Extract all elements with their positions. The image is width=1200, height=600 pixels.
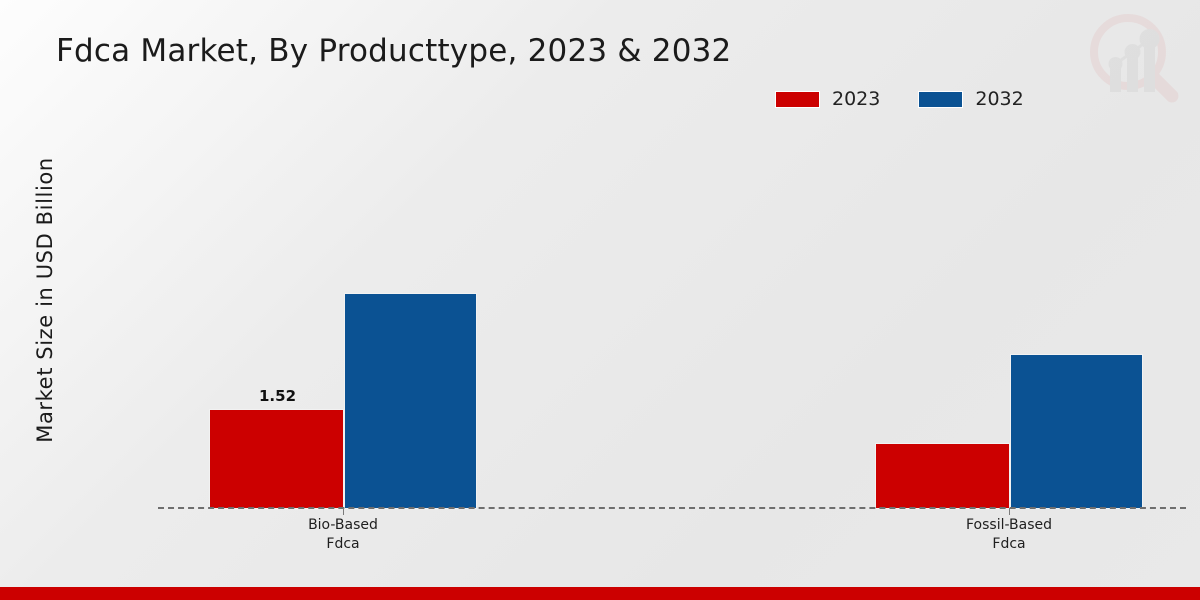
x-axis-baseline [158, 507, 1186, 509]
legend-label-2023: 2023 [832, 88, 880, 110]
x-label-fossil-based-fdca-line2: Fdca [929, 535, 1089, 554]
magnifier-bar-chart-watermark-icon [1082, 6, 1186, 110]
x-label-fossil-based-fdca: Fossil-Based Fdca [929, 516, 1089, 554]
x-label-bio-based-fdca: Bio-Based Fdca [263, 516, 423, 554]
x-axis-labels: Bio-Based Fdca Fossil-Based Fdca [158, 512, 1186, 572]
x-label-bio-based-fdca-line1: Bio-Based [263, 516, 423, 535]
legend-label-2032: 2032 [975, 88, 1023, 110]
chart-canvas: Fdca Market, By Producttype, 2023 & 2032… [0, 0, 1200, 600]
bar-fossil-based-fdca-2032[interactable] [1010, 354, 1143, 509]
legend-swatch-2032 [918, 91, 963, 108]
legend-item-2023[interactable]: 2023 [775, 88, 880, 110]
x-tick-fossil-based-fdca [1009, 508, 1010, 515]
bars-layer: 1.52 [158, 140, 1186, 509]
legend-item-2032[interactable]: 2032 [918, 88, 1023, 110]
x-label-fossil-based-fdca-line1: Fossil-Based [929, 516, 1089, 535]
footer-accent-bar [0, 587, 1200, 600]
bar-bio-based-fdca-2023[interactable] [209, 409, 344, 509]
x-label-bio-based-fdca-line2: Fdca [263, 535, 423, 554]
bar-bio-based-fdca-2032[interactable] [344, 293, 477, 509]
legend-swatch-2023 [775, 91, 820, 108]
plot-area: 1.52 [158, 140, 1186, 509]
page-title: Fdca Market, By Producttype, 2023 & 2032 [56, 33, 731, 69]
bar-fossil-based-fdca-2023[interactable] [875, 443, 1010, 509]
y-axis-title: Market Size in USD Billion [22, 0, 68, 600]
bar-value-label-bio-based-fdca-2023: 1.52 [259, 387, 296, 405]
x-tick-bio-based-fdca [343, 508, 344, 515]
chart-legend: 2023 2032 [775, 88, 1024, 110]
